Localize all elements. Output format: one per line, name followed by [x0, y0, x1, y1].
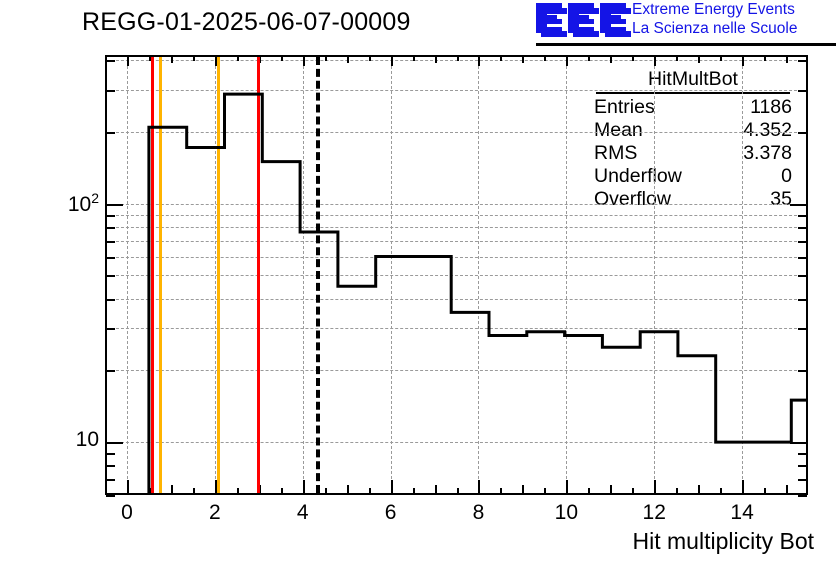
page-title: REGG-01-2025-06-07-00009 [82, 8, 411, 37]
eee-letter-2 [568, 3, 594, 35]
x-tick-label: 8 [448, 501, 508, 525]
x-tick-label: 12 [624, 501, 684, 525]
x-axis-title: Hit multiplicity Bot [633, 528, 814, 555]
y-tick [106, 495, 115, 497]
y-tick-label-100: 102 [13, 190, 99, 217]
plot-canvas: REGG-01-2025-06-07-00009 [0, 0, 836, 572]
y-tick-right [798, 495, 807, 497]
eee-logo-line2: La Scienza nelle Scuole [632, 20, 797, 39]
x-tick-label: 2 [185, 501, 245, 525]
x-tick-label: 0 [97, 501, 157, 525]
eee-logo-text: Extreme Energy Events La Scienza nelle S… [632, 1, 797, 38]
eee-letter-3 [600, 3, 626, 35]
x-tick-label: 6 [361, 501, 421, 525]
eee-logo: Extreme Energy Events La Scienza nelle S… [536, 2, 832, 42]
eee-logo-line1: Extreme Energy Events [632, 1, 797, 20]
eee-logo-mark [536, 3, 628, 37]
plot-frame [105, 55, 808, 495]
x-tick-label: 14 [712, 501, 772, 525]
header-divider [536, 43, 836, 46]
y-tick-label-10: 10 [13, 428, 99, 452]
x-tick-label: 10 [536, 501, 596, 525]
eee-letter-1 [536, 3, 562, 35]
x-tick-label: 4 [273, 501, 333, 525]
